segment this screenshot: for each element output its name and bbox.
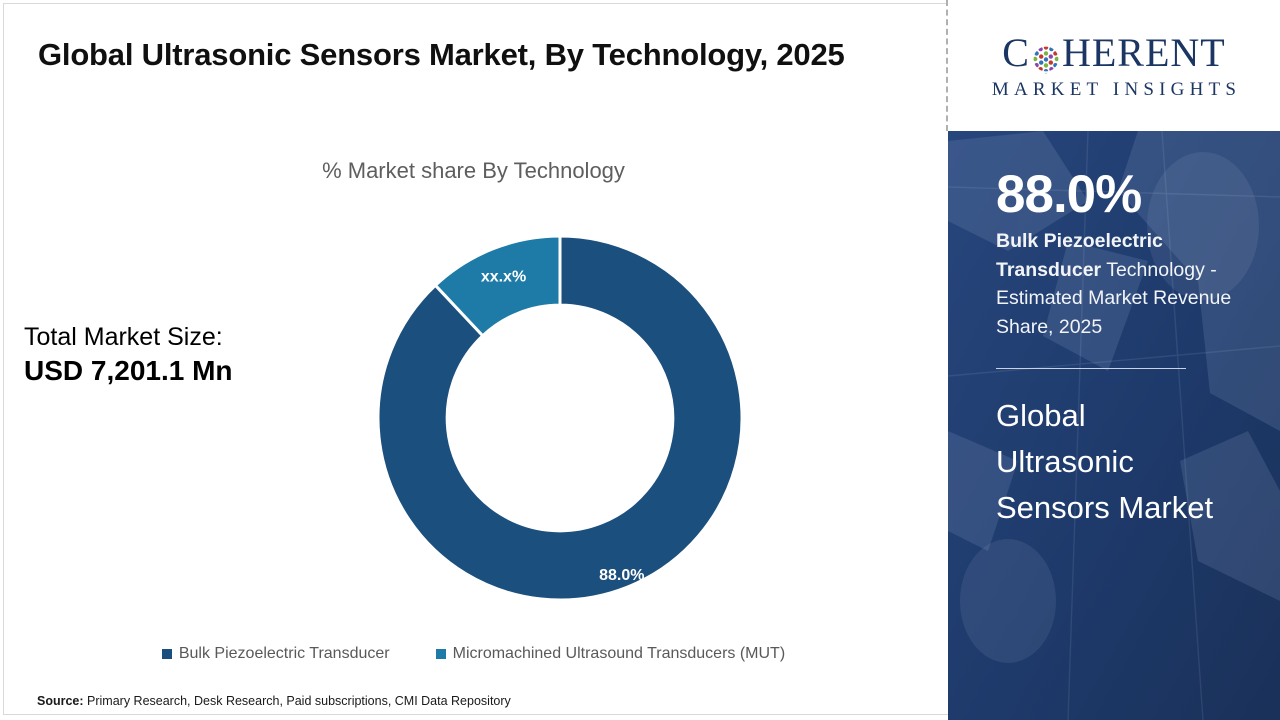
right-rail-panel: 88.0% Bulk Piezoelectric Transducer Tech… [948, 131, 1280, 720]
rail-headline-description: Bulk Piezoelectric Transducer Technology… [996, 227, 1232, 342]
chart-subtitle: % Market share By Technology [0, 158, 947, 184]
rail-market-name: Global Ultrasonic Sensors Market [996, 393, 1232, 531]
donut-label-micromachined-ultrasound-transducers: xx.x% [481, 268, 526, 285]
total-market-size-value: USD 7,201.1 Mn [24, 353, 354, 389]
legend-item-bulk-piezoelectric-transducer[interactable]: Bulk Piezoelectric Transducer [162, 645, 390, 663]
donut-chart-svg: 88.0% xx.x% [370, 228, 750, 608]
rail-headline-percent: 88.0% [996, 131, 1232, 223]
source-label: Source: [37, 694, 84, 708]
chart-legend: Bulk Piezoelectric Transducer Micromachi… [0, 645, 947, 663]
donut-label-bulk-piezoelectric-transducer: 88.0% [599, 567, 644, 584]
right-rail-content: 88.0% Bulk Piezoelectric Transducer Tech… [948, 131, 1280, 531]
infographic-root: Global Ultrasonic Sensors Market, By Tec… [0, 0, 1280, 720]
source-note: Source: Primary Research, Desk Research,… [37, 694, 511, 708]
legend-label: Micromachined Ultrasound Transducers (MU… [453, 645, 786, 663]
legend-swatch-icon [436, 649, 446, 659]
donut-chart: 88.0% xx.x% [370, 228, 750, 608]
logo-wordmark-rest: HERENT [1062, 33, 1226, 73]
legend-label: Bulk Piezoelectric Transducer [179, 645, 390, 663]
total-market-size-label: Total Market Size: [24, 322, 354, 353]
legend-item-micromachined-ultrasound-transducers[interactable]: Micromachined Ultrasound Transducers (MU… [436, 645, 786, 663]
total-market-size-block: Total Market Size: USD 7,201.1 Mn [24, 322, 354, 388]
source-text: Primary Research, Desk Research, Paid su… [84, 694, 511, 708]
brand-logo: C [948, 2, 1280, 131]
page-title: Global Ultrasonic Sensors Market, By Tec… [38, 30, 928, 80]
logo-letter-c: C [1002, 33, 1030, 73]
logo-wordmark: C [1002, 33, 1225, 73]
globe-icon [1031, 41, 1061, 71]
rail-divider [996, 368, 1186, 369]
logo-tagline: MARKET INSIGHTS [987, 79, 1241, 101]
legend-swatch-icon [162, 649, 172, 659]
